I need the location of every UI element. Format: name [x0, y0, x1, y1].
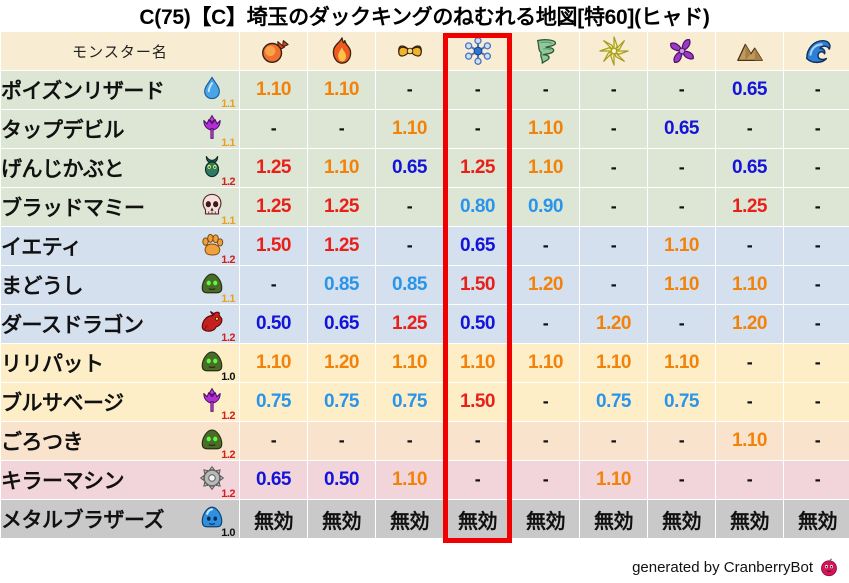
- resistance-cell: -: [376, 188, 443, 226]
- resistance-value: 0.75: [392, 391, 427, 412]
- resistance-value: 0.65: [256, 469, 291, 490]
- resistance-cell: 0.80: [444, 188, 511, 226]
- table-header-row: モンスター名: [1, 32, 849, 70]
- resistance-cell: -: [784, 110, 849, 148]
- resistance-cell: -: [376, 422, 443, 460]
- column-header-meteor: [240, 32, 307, 70]
- resistance-cell: -: [512, 305, 579, 343]
- monster-name-cell: タップデビル1.1: [1, 110, 239, 148]
- resistance-value: 1.20: [732, 313, 767, 334]
- resistance-cell: 1.10: [444, 344, 511, 382]
- column-header-dark: [648, 32, 715, 70]
- resistance-cell: -: [784, 149, 849, 187]
- resistance-cell: 1.10: [716, 422, 783, 460]
- monster-version-label: 1.2: [221, 177, 235, 188]
- no-data-dash: -: [747, 118, 753, 138]
- monster-version-label: 1.2: [221, 489, 235, 500]
- footer: generated by CranberryBot: [632, 557, 839, 577]
- resistance-cell: -: [308, 422, 375, 460]
- resistance-cell: 無効: [648, 500, 715, 538]
- monster-name-cell: メタルブラザーズ1.0: [1, 500, 239, 538]
- resistance-cell: -: [580, 227, 647, 265]
- table-row: ダースドラゴン1.20.500.651.250.50-1.20-1.20-: [1, 305, 849, 343]
- resistance-cell: 0.85: [308, 266, 375, 304]
- no-effect-label: 無効: [730, 511, 769, 533]
- resistance-cell: -: [716, 110, 783, 148]
- resistance-cell: 1.50: [444, 383, 511, 421]
- resistance-value: 1.20: [324, 352, 359, 373]
- resistance-cell: 1.10: [376, 461, 443, 499]
- resistance-value: 1.50: [256, 235, 291, 256]
- resistance-cell: -: [580, 110, 647, 148]
- resistance-value: 0.80: [460, 196, 495, 217]
- resistance-value: 0.65: [732, 157, 767, 178]
- no-data-dash: -: [271, 274, 277, 294]
- no-data-dash: -: [679, 313, 685, 333]
- resistance-cell: -: [648, 461, 715, 499]
- column-header-monster-name: モンスター名: [1, 32, 239, 70]
- resistance-cell: 1.50: [240, 227, 307, 265]
- flame-icon: [308, 36, 375, 66]
- no-data-dash: -: [407, 235, 413, 255]
- resistance-cell: -: [512, 422, 579, 460]
- no-data-dash: -: [611, 235, 617, 255]
- resistance-value: 1.10: [324, 79, 359, 100]
- no-data-dash: -: [747, 391, 753, 411]
- resistance-value: 1.10: [664, 352, 699, 373]
- resistance-cell: 0.75: [580, 383, 647, 421]
- resistance-cell: 1.20: [716, 305, 783, 343]
- resistance-cell: 1.10: [580, 344, 647, 382]
- resistance-value: 1.50: [460, 391, 495, 412]
- resistance-value: 1.25: [256, 157, 291, 178]
- no-data-dash: -: [611, 196, 617, 216]
- resistance-table: モンスター名 ポイズンリザード1.11.101.10-----0.65-タップデ…: [0, 31, 849, 539]
- no-data-dash: -: [815, 118, 821, 138]
- resistance-cell: 1.10: [376, 110, 443, 148]
- column-header-flame: [308, 32, 375, 70]
- resistance-cell: 1.10: [308, 149, 375, 187]
- no-data-dash: -: [815, 274, 821, 294]
- resistance-cell: 1.10: [580, 461, 647, 499]
- monster-name-cell: げんじかぶと1.2: [1, 149, 239, 187]
- monster-name-cell: イエティ1.2: [1, 227, 239, 265]
- monster-name-label: ブルサベージ: [1, 392, 124, 415]
- table-row: げんじかぶと1.21.251.100.651.251.10--0.65-: [1, 149, 849, 187]
- no-data-dash: -: [611, 274, 617, 294]
- no-data-dash: -: [747, 469, 753, 489]
- resistance-cell: -: [580, 149, 647, 187]
- no-data-dash: -: [611, 79, 617, 99]
- no-data-dash: -: [815, 391, 821, 411]
- monster-version-label: 1.0: [221, 528, 235, 539]
- resistance-value: 1.10: [528, 118, 563, 139]
- resistance-value: 1.10: [324, 157, 359, 178]
- table-row: イエティ1.21.501.25-0.65--1.10--: [1, 227, 849, 265]
- monster-version-label: 1.1: [221, 294, 235, 305]
- earth-icon: [716, 36, 783, 66]
- resistance-cell: -: [784, 227, 849, 265]
- column-header-explosion: [376, 32, 443, 70]
- resistance-cell: -: [444, 71, 511, 109]
- cranberry-icon: [819, 557, 839, 577]
- resistance-cell: 1.10: [648, 227, 715, 265]
- resistance-cell: 無効: [444, 500, 511, 538]
- no-effect-label: 無効: [526, 511, 565, 533]
- resistance-cell: 0.75: [240, 383, 307, 421]
- resistance-value: 1.10: [256, 79, 291, 100]
- resistance-cell: -: [308, 110, 375, 148]
- monster-version-label: 1.2: [221, 411, 235, 422]
- meteor-icon: [240, 36, 307, 66]
- monster-name-cell: まどうし1.1: [1, 266, 239, 304]
- table-row: ブラッドマミー1.11.251.25-0.800.90--1.25-: [1, 188, 849, 226]
- resistance-value: 1.10: [528, 157, 563, 178]
- no-effect-label: 無効: [254, 511, 293, 533]
- resistance-cell: 0.65: [308, 305, 375, 343]
- resistance-value: 0.85: [324, 274, 359, 295]
- resistance-cell: 0.65: [240, 461, 307, 499]
- table-row: キラーマシン1.20.650.501.10--1.10---: [1, 461, 849, 499]
- resistance-cell: 1.10: [240, 344, 307, 382]
- column-header-light: [580, 32, 647, 70]
- resistance-value: 0.75: [664, 391, 699, 412]
- no-effect-label: 無効: [322, 511, 361, 533]
- resistance-cell: -: [784, 422, 849, 460]
- no-data-dash: -: [747, 235, 753, 255]
- no-data-dash: -: [543, 79, 549, 99]
- resistance-cell: -: [580, 422, 647, 460]
- no-data-dash: -: [679, 430, 685, 450]
- resistance-cell: -: [648, 149, 715, 187]
- resistance-value: 1.10: [664, 274, 699, 295]
- table-row: タップデビル1.1--1.10-1.10-0.65--: [1, 110, 849, 148]
- resistance-cell: -: [580, 188, 647, 226]
- resistance-cell: 0.65: [716, 149, 783, 187]
- resistance-value: 1.10: [596, 352, 631, 373]
- no-data-dash: -: [679, 196, 685, 216]
- resistance-cell: -: [648, 71, 715, 109]
- resistance-cell: 1.25: [444, 149, 511, 187]
- no-data-dash: -: [339, 430, 345, 450]
- monster-name-label: リリパット: [1, 353, 104, 376]
- resistance-value: 1.50: [460, 274, 495, 295]
- resistance-cell: 0.75: [648, 383, 715, 421]
- resistance-cell: -: [784, 344, 849, 382]
- resistance-value: 0.65: [392, 157, 427, 178]
- column-header-water: [784, 32, 849, 70]
- resistance-cell: -: [716, 344, 783, 382]
- monster-name-label: タップデビル: [1, 119, 124, 142]
- no-data-dash: -: [815, 352, 821, 372]
- resistance-cell: -: [784, 266, 849, 304]
- resistance-value: 0.50: [460, 313, 495, 334]
- resistance-value: 1.25: [324, 196, 359, 217]
- resistance-cell: 1.10: [716, 266, 783, 304]
- resistance-value: 1.10: [732, 430, 767, 451]
- monster-name-cell: ポイズンリザード1.1: [1, 71, 239, 109]
- resistance-cell: -: [444, 422, 511, 460]
- resistance-cell: 1.10: [512, 110, 579, 148]
- monster-name-label: ブラッドマミー: [1, 197, 145, 220]
- resistance-cell: 0.65: [376, 149, 443, 187]
- monster-name-label: ポイズンリザード: [1, 80, 164, 103]
- no-data-dash: -: [543, 430, 549, 450]
- no-effect-label: 無効: [662, 511, 701, 533]
- resistance-value: 1.10: [460, 352, 495, 373]
- no-data-dash: -: [679, 469, 685, 489]
- table-row: ブルサベージ1.20.750.750.751.50-0.750.75--: [1, 383, 849, 421]
- resistance-cell: -: [716, 461, 783, 499]
- resistance-cell: -: [512, 71, 579, 109]
- resistance-value: 1.10: [392, 352, 427, 373]
- resistance-cell: 0.75: [376, 383, 443, 421]
- resistance-value: 0.90: [528, 196, 563, 217]
- no-data-dash: -: [815, 79, 821, 99]
- no-data-dash: -: [475, 430, 481, 450]
- resistance-cell: -: [648, 422, 715, 460]
- monster-name-label: ごろつき: [1, 431, 83, 454]
- table-row: リリパット1.01.101.201.101.101.101.101.10--: [1, 344, 849, 382]
- table-row: まどうし1.1-0.850.851.501.20-1.101.10-: [1, 266, 849, 304]
- resistance-value: 0.65: [732, 79, 767, 100]
- no-data-dash: -: [475, 79, 481, 99]
- no-data-dash: -: [407, 79, 413, 99]
- monster-name-cell: ブルサベージ1.2: [1, 383, 239, 421]
- resistance-value: 1.20: [528, 274, 563, 295]
- no-data-dash: -: [815, 157, 821, 177]
- no-data-dash: -: [543, 391, 549, 411]
- monster-version-label: 1.1: [221, 138, 235, 149]
- monster-version-label: 1.1: [221, 99, 235, 110]
- resistance-cell: -: [376, 227, 443, 265]
- resistance-value: 1.25: [392, 313, 427, 334]
- no-data-dash: -: [543, 235, 549, 255]
- resistance-value: 0.75: [324, 391, 359, 412]
- column-header-tornado: [512, 32, 579, 70]
- resistance-cell: 無効: [376, 500, 443, 538]
- dark-icon: [648, 36, 715, 66]
- resistance-cell: -: [784, 383, 849, 421]
- no-data-dash: -: [815, 430, 821, 450]
- resistance-cell: -: [512, 383, 579, 421]
- monster-name-label: メタルブラザーズ: [1, 509, 164, 532]
- resistance-cell: 無効: [240, 500, 307, 538]
- resistance-value: 1.10: [392, 469, 427, 490]
- table-row: メタルブラザーズ1.0無効無効無効無効無効無効無効無効無効: [1, 500, 849, 538]
- snowflake-icon: [444, 36, 511, 66]
- footer-text: generated by CranberryBot: [632, 559, 813, 576]
- resistance-cell: 0.65: [716, 71, 783, 109]
- resistance-cell: -: [784, 71, 849, 109]
- resistance-cell: 1.10: [240, 71, 307, 109]
- resistance-cell: -: [784, 461, 849, 499]
- no-data-dash: -: [475, 469, 481, 489]
- monster-name-cell: リリパット1.0: [1, 344, 239, 382]
- resistance-cell: 1.25: [308, 227, 375, 265]
- monster-name-label: ダースドラゴン: [1, 314, 143, 337]
- resistance-value: 0.65: [664, 118, 699, 139]
- resistance-value: 0.50: [256, 313, 291, 334]
- resistance-cell: 0.75: [308, 383, 375, 421]
- monster-name-cell: ダースドラゴン1.2: [1, 305, 239, 343]
- tornado-icon: [512, 36, 579, 66]
- resistance-cell: -: [784, 188, 849, 226]
- resistance-value: 1.25: [732, 196, 767, 217]
- resistance-cell: 0.50: [308, 461, 375, 499]
- table-row: ごろつき1.2-------1.10-: [1, 422, 849, 460]
- no-data-dash: -: [815, 196, 821, 216]
- monster-name-label: まどうし: [1, 275, 83, 298]
- monster-version-label: 1.2: [221, 450, 235, 461]
- resistance-cell: 無効: [784, 500, 849, 538]
- column-header-snowflake: [444, 32, 511, 70]
- monster-name-label: イエティ: [1, 236, 82, 259]
- monster-name-cell: ごろつき1.2: [1, 422, 239, 460]
- resistance-cell: -: [716, 383, 783, 421]
- monster-version-label: 1.2: [221, 333, 235, 344]
- monster-version-label: 1.0: [221, 372, 235, 383]
- monster-name-label: キラーマシン: [1, 470, 124, 493]
- resistance-cell: 1.10: [648, 266, 715, 304]
- no-data-dash: -: [339, 118, 345, 138]
- resistance-cell: 1.25: [308, 188, 375, 226]
- resistance-cell: 0.85: [376, 266, 443, 304]
- column-header-earth: [716, 32, 783, 70]
- resistance-cell: -: [444, 461, 511, 499]
- resistance-value: 1.10: [732, 274, 767, 295]
- table-row: ポイズンリザード1.11.101.10-----0.65-: [1, 71, 849, 109]
- resistance-cell: -: [240, 422, 307, 460]
- resistance-cell: -: [512, 227, 579, 265]
- no-data-dash: -: [611, 118, 617, 138]
- no-data-dash: -: [543, 469, 549, 489]
- no-data-dash: -: [679, 157, 685, 177]
- page-title: C(75)【C】埼玉のダックキングのねむれる地図[特60](ヒャド): [0, 0, 849, 31]
- monster-name-cell: キラーマシン1.2: [1, 461, 239, 499]
- resistance-value: 1.25: [256, 196, 291, 217]
- elemental-resistance-chart: C(75)【C】埼玉のダックキングのねむれる地図[特60](ヒャド) モンスター…: [0, 0, 849, 583]
- resistance-value: 1.20: [596, 313, 631, 334]
- no-data-dash: -: [815, 469, 821, 489]
- resistance-cell: 0.50: [240, 305, 307, 343]
- resistance-value: 0.65: [460, 235, 495, 256]
- resistance-cell: -: [784, 305, 849, 343]
- no-effect-label: 無効: [390, 511, 429, 533]
- resistance-cell: -: [376, 71, 443, 109]
- resistance-cell: 1.10: [308, 71, 375, 109]
- resistance-cell: 1.25: [240, 149, 307, 187]
- resistance-cell: 1.10: [648, 344, 715, 382]
- resistance-cell: 1.50: [444, 266, 511, 304]
- resistance-cell: 1.10: [512, 344, 579, 382]
- no-data-dash: -: [271, 118, 277, 138]
- explosion-icon: [376, 36, 443, 66]
- no-data-dash: -: [611, 430, 617, 450]
- no-data-dash: -: [611, 157, 617, 177]
- resistance-value: 0.85: [392, 274, 427, 295]
- resistance-cell: 無効: [716, 500, 783, 538]
- no-data-dash: -: [747, 352, 753, 372]
- resistance-cell: -: [716, 227, 783, 265]
- resistance-cell: 1.25: [716, 188, 783, 226]
- resistance-cell: 0.65: [444, 227, 511, 265]
- resistance-value: 0.75: [256, 391, 291, 412]
- resistance-value: 0.50: [324, 469, 359, 490]
- no-data-dash: -: [543, 313, 549, 333]
- no-data-dash: -: [679, 79, 685, 99]
- resistance-cell: -: [444, 110, 511, 148]
- resistance-cell: -: [648, 188, 715, 226]
- resistance-cell: 0.65: [648, 110, 715, 148]
- resistance-cell: 1.20: [512, 266, 579, 304]
- no-data-dash: -: [475, 118, 481, 138]
- resistance-cell: -: [580, 71, 647, 109]
- resistance-cell: 0.90: [512, 188, 579, 226]
- monster-name-cell: ブラッドマミー1.1: [1, 188, 239, 226]
- resistance-value: 1.10: [392, 118, 427, 139]
- resistance-cell: 1.20: [580, 305, 647, 343]
- resistance-value: 1.10: [256, 352, 291, 373]
- resistance-value: 1.10: [596, 469, 631, 490]
- resistance-cell: 0.50: [444, 305, 511, 343]
- resistance-cell: 無効: [580, 500, 647, 538]
- no-data-dash: -: [407, 196, 413, 216]
- no-data-dash: -: [815, 235, 821, 255]
- resistance-cell: 1.25: [240, 188, 307, 226]
- resistance-cell: -: [512, 461, 579, 499]
- no-effect-label: 無効: [458, 511, 497, 533]
- monster-version-label: 1.2: [221, 255, 235, 266]
- resistance-cell: 1.25: [376, 305, 443, 343]
- resistance-value: 0.65: [324, 313, 359, 334]
- resistance-value: 1.10: [664, 235, 699, 256]
- monster-version-label: 1.1: [221, 216, 235, 227]
- no-data-dash: -: [407, 430, 413, 450]
- resistance-cell: -: [648, 305, 715, 343]
- resistance-value: 1.25: [460, 157, 495, 178]
- resistance-cell: 無効: [308, 500, 375, 538]
- light-icon: [580, 36, 647, 66]
- resistance-cell: -: [240, 110, 307, 148]
- resistance-value: 0.75: [596, 391, 631, 412]
- monster-name-label: げんじかぶと: [1, 158, 124, 181]
- no-effect-label: 無効: [594, 511, 633, 533]
- no-effect-label: 無効: [798, 511, 837, 533]
- resistance-value: 1.25: [324, 235, 359, 256]
- resistance-cell: 1.20: [308, 344, 375, 382]
- resistance-cell: 1.10: [512, 149, 579, 187]
- resistance-value: 1.10: [528, 352, 563, 373]
- resistance-cell: -: [240, 266, 307, 304]
- water-icon: [784, 36, 849, 66]
- resistance-cell: 無効: [512, 500, 579, 538]
- no-data-dash: -: [271, 430, 277, 450]
- no-data-dash: -: [815, 313, 821, 333]
- resistance-cell: -: [580, 266, 647, 304]
- resistance-cell: 1.10: [376, 344, 443, 382]
